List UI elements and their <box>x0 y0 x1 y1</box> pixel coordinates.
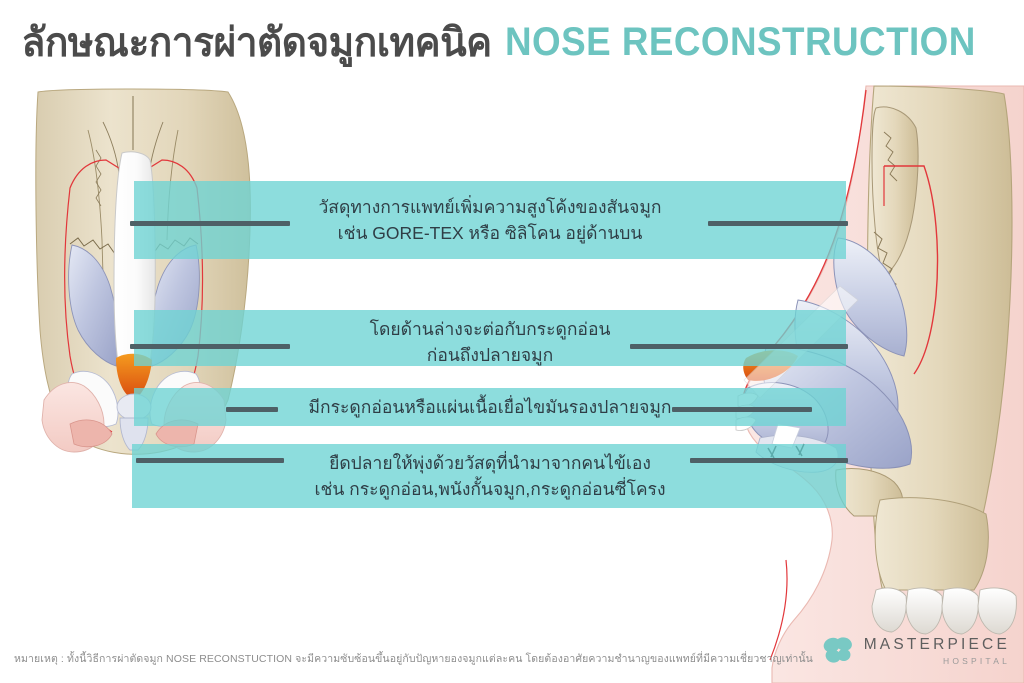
callout-line: ยืดปลายให้พุ่งด้วยวัสดุที่นำมาจากคนไข้เอ… <box>246 450 734 476</box>
logo-name: MASTERPIECE <box>864 637 1010 653</box>
callout-text-lower-cartilage-join: โดยด้านล่างจะต่อกับกระดูกอ่อนก่อนถึงปลาย… <box>246 316 734 368</box>
callout-text-autologous-tip-extension: ยืดปลายให้พุ่งด้วยวัสดุที่นำมาจากคนไข้เอ… <box>246 450 734 502</box>
callout-line: มีกระดูกอ่อนหรือแผ่นเนื้อเยื่อไขมันรองปล… <box>246 394 734 420</box>
title-english: NOSE RECONSTRUCTION <box>505 20 976 65</box>
callout-line: เช่น GORE-TEX หรือ ซิลิโคน อยู่ด้านบน <box>246 220 734 246</box>
title-thai: ลักษณะการผ่าตัดจมูกเทคนิค <box>21 10 491 74</box>
logo-subtitle: HOSPITAL <box>864 657 1010 666</box>
callout-line: วัสดุทางการแพทย์เพิ่มความสูงโค้งของสันจม… <box>246 194 734 220</box>
infographic-canvas: ลักษณะการผ่าตัดจมูกเทคนิค NOSE RECONSTRU… <box>0 0 1024 683</box>
callout-line: เช่น กระดูกอ่อน,พนังกั้นจมูก,กระดูกอ่อนซ… <box>246 476 734 502</box>
brand-logo: MASTERPIECE HOSPITAL <box>821 636 1010 666</box>
teeth <box>872 588 1016 634</box>
callout-line: ก่อนถึงปลายจมูก <box>246 342 734 368</box>
callout-text-implant-dorsum: วัสดุทางการแพทย์เพิ่มความสูงโค้งของสันจม… <box>246 194 734 246</box>
footer-note: หมายเหตุ : ทั้งนี้วิธีการผ่าตัดจมูก NOSE… <box>14 650 813 667</box>
lateral-nose-anatomy <box>736 86 1024 683</box>
logo-text: MASTERPIECE HOSPITAL <box>864 637 1010 665</box>
callout-text-tip-cartilage-graft: มีกระดูกอ่อนหรือแผ่นเนื้อเยื่อไขมันรองปล… <box>246 394 734 420</box>
butterfly-icon <box>821 636 855 666</box>
callout-line: โดยด้านล่างจะต่อกับกระดูกอ่อน <box>246 316 734 342</box>
page-title: ลักษณะการผ่าตัดจมูกเทคนิค NOSE RECONSTRU… <box>0 14 1024 70</box>
